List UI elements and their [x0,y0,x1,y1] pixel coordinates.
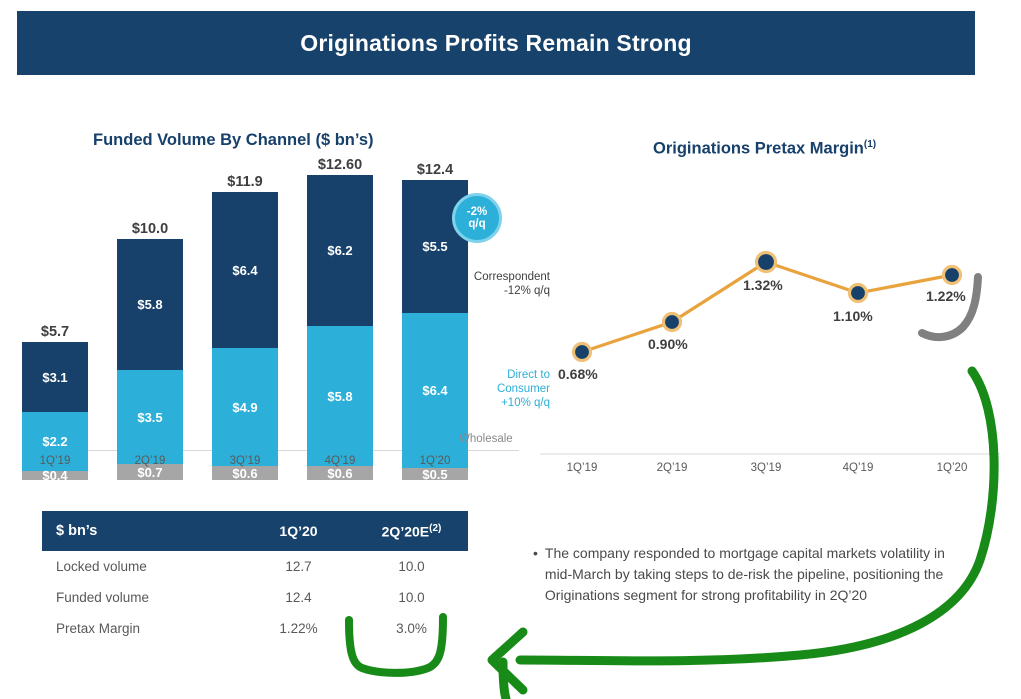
bar-segment-label: $5.8 [137,297,162,312]
commentary-box: • The company responded to mortgage capi… [533,543,953,606]
line-chart-title-superscript: (1) [864,139,876,150]
bar-segment-label: $0.6 [232,466,257,481]
bar-total-label: $10.0 [117,221,183,237]
margin-trend-line [582,262,952,352]
data-point-marker [850,285,867,302]
bar-segment-wholesale: $0.6 [212,466,278,480]
data-point-label: 1.32% [743,277,783,293]
table-cell-q1: 12.7 [242,559,355,574]
green-arrow-tail-icon [503,662,506,699]
qoq-change-badge: -2% q/q [452,193,502,243]
data-point-marker [944,267,961,284]
bar-segment-label: $0.5 [422,467,447,482]
bar-total-label: $5.7 [22,324,88,340]
bar-chart-title: Funded Volume By Channel ($ bn’s) [93,131,374,150]
page-title: Originations Profits Remain Strong [300,30,691,57]
bar-segment-wholesale: $0.4 [22,471,88,480]
table-row: Pretax Margin 1.22% 3.0% [42,613,468,644]
table-cell-label: Pretax Margin [42,621,242,636]
bar-total-label: $12.60 [307,157,373,173]
table-header-row: $ bn’s 1Q’20 2Q’20E(2) [42,511,468,551]
bar-segment-label: $3.1 [42,370,67,385]
table-row: Locked volume 12.7 10.0 [42,551,468,582]
summary-table: $ bn’s 1Q’20 2Q’20E(2) Locked volume 12.… [42,511,468,644]
line-x-axis-label: 1Q’20 [917,462,987,474]
table-header-q1: 1Q’20 [242,523,355,539]
data-point-label: 0.68% [558,366,598,382]
line-x-axis-label: 2Q’19 [637,462,707,474]
line-x-axis-label: 1Q’19 [547,462,617,474]
bar-segment-label: $2.2 [42,434,67,449]
margin-data-points [574,253,961,361]
table-header-q2-superscript: (2) [429,523,441,534]
line-x-axis-label: 3Q’19 [731,462,801,474]
bar-x-axis-label: 1Q’20 [402,455,468,467]
bar-segment-correspondent: $5.8 [117,239,183,370]
green-arrow-head-icon [492,632,523,690]
bar-segment-label: $6.4 [232,263,257,278]
table-cell-q1: 12.4 [242,590,355,605]
table-cell-q2: 10.0 [355,590,468,605]
bar-segment-correspondent: $6.2 [307,175,373,326]
bar-total-label: $11.9 [212,174,278,190]
bar-segment-label: $6.2 [327,243,352,258]
bar-segment-label: $5.8 [327,389,352,404]
bar-segment-label: $5.5 [422,239,447,254]
bar-x-axis-label: 3Q’19 [212,455,278,467]
data-point-label: 1.10% [833,308,873,324]
table-header-q2: 2Q’20E(2) [355,523,468,540]
line-chart-svg [530,160,1021,480]
table-cell-q1: 1.22% [242,621,355,636]
bar-segment-wholesale: $0.5 [402,468,468,480]
table-header-q2-text: 2Q’20E [382,523,429,539]
bar-x-axis-label: 4Q’19 [307,455,373,467]
bar-segment-label: $6.4 [422,383,447,398]
bar-x-axis-label: 1Q’19 [22,455,88,467]
list-item: • The company responded to mortgage capi… [533,543,953,606]
pretax-margin-line-chart: 0.68% 0.90% 1.32% 1.10% 1.22% 1Q’19 2Q’1… [530,160,1021,480]
table-cell-q2: 10.0 [355,559,468,574]
bar-segment-direct-to-consumer: $4.9 [212,348,278,466]
bar-x-axis-label: 2Q’19 [117,455,183,467]
badge-line-2: q/q [468,218,485,231]
line-chart-title: Originations Pretax Margin(1) [653,139,876,159]
table-cell-q2: 3.0% [355,621,468,636]
bar-segment-label: $3.5 [137,410,162,425]
bar-segment-direct-to-consumer: $5.8 [307,326,373,466]
bar-total-label: $12.4 [402,162,468,178]
bar-segment-label: $0.6 [327,466,352,481]
data-point-marker [664,314,681,331]
bar-segment-correspondent: $3.1 [22,342,88,412]
table-row: Funded volume 12.4 10.0 [42,582,468,613]
slide-canvas: Originations Profits Remain Strong Funde… [0,0,1021,699]
bar-segment-label: $0.4 [42,468,67,483]
table-cell-label: Funded volume [42,590,242,605]
bullet-text: The company responded to mortgage capita… [545,543,953,606]
bar-segment-direct-to-consumer: $3.5 [117,370,183,464]
bar-segment-label: $4.9 [232,400,257,415]
line-x-axis-label: 4Q’19 [823,462,893,474]
data-point-label: 1.22% [926,288,966,304]
table-cell-label: Locked volume [42,559,242,574]
data-point-label: 0.90% [648,336,688,352]
data-point-marker [757,253,776,272]
slide-title-banner: Originations Profits Remain Strong [17,11,975,75]
data-point-marker [574,344,591,361]
table-header-units: $ bn’s [42,523,242,539]
badge-line-1: -2% [467,206,487,219]
bullet-dot-icon: • [533,543,538,606]
bar-segment-wholesale: $0.6 [307,466,373,480]
line-chart-title-text: Originations Pretax Margin [653,140,864,158]
bar-segment-correspondent: $6.4 [212,192,278,348]
